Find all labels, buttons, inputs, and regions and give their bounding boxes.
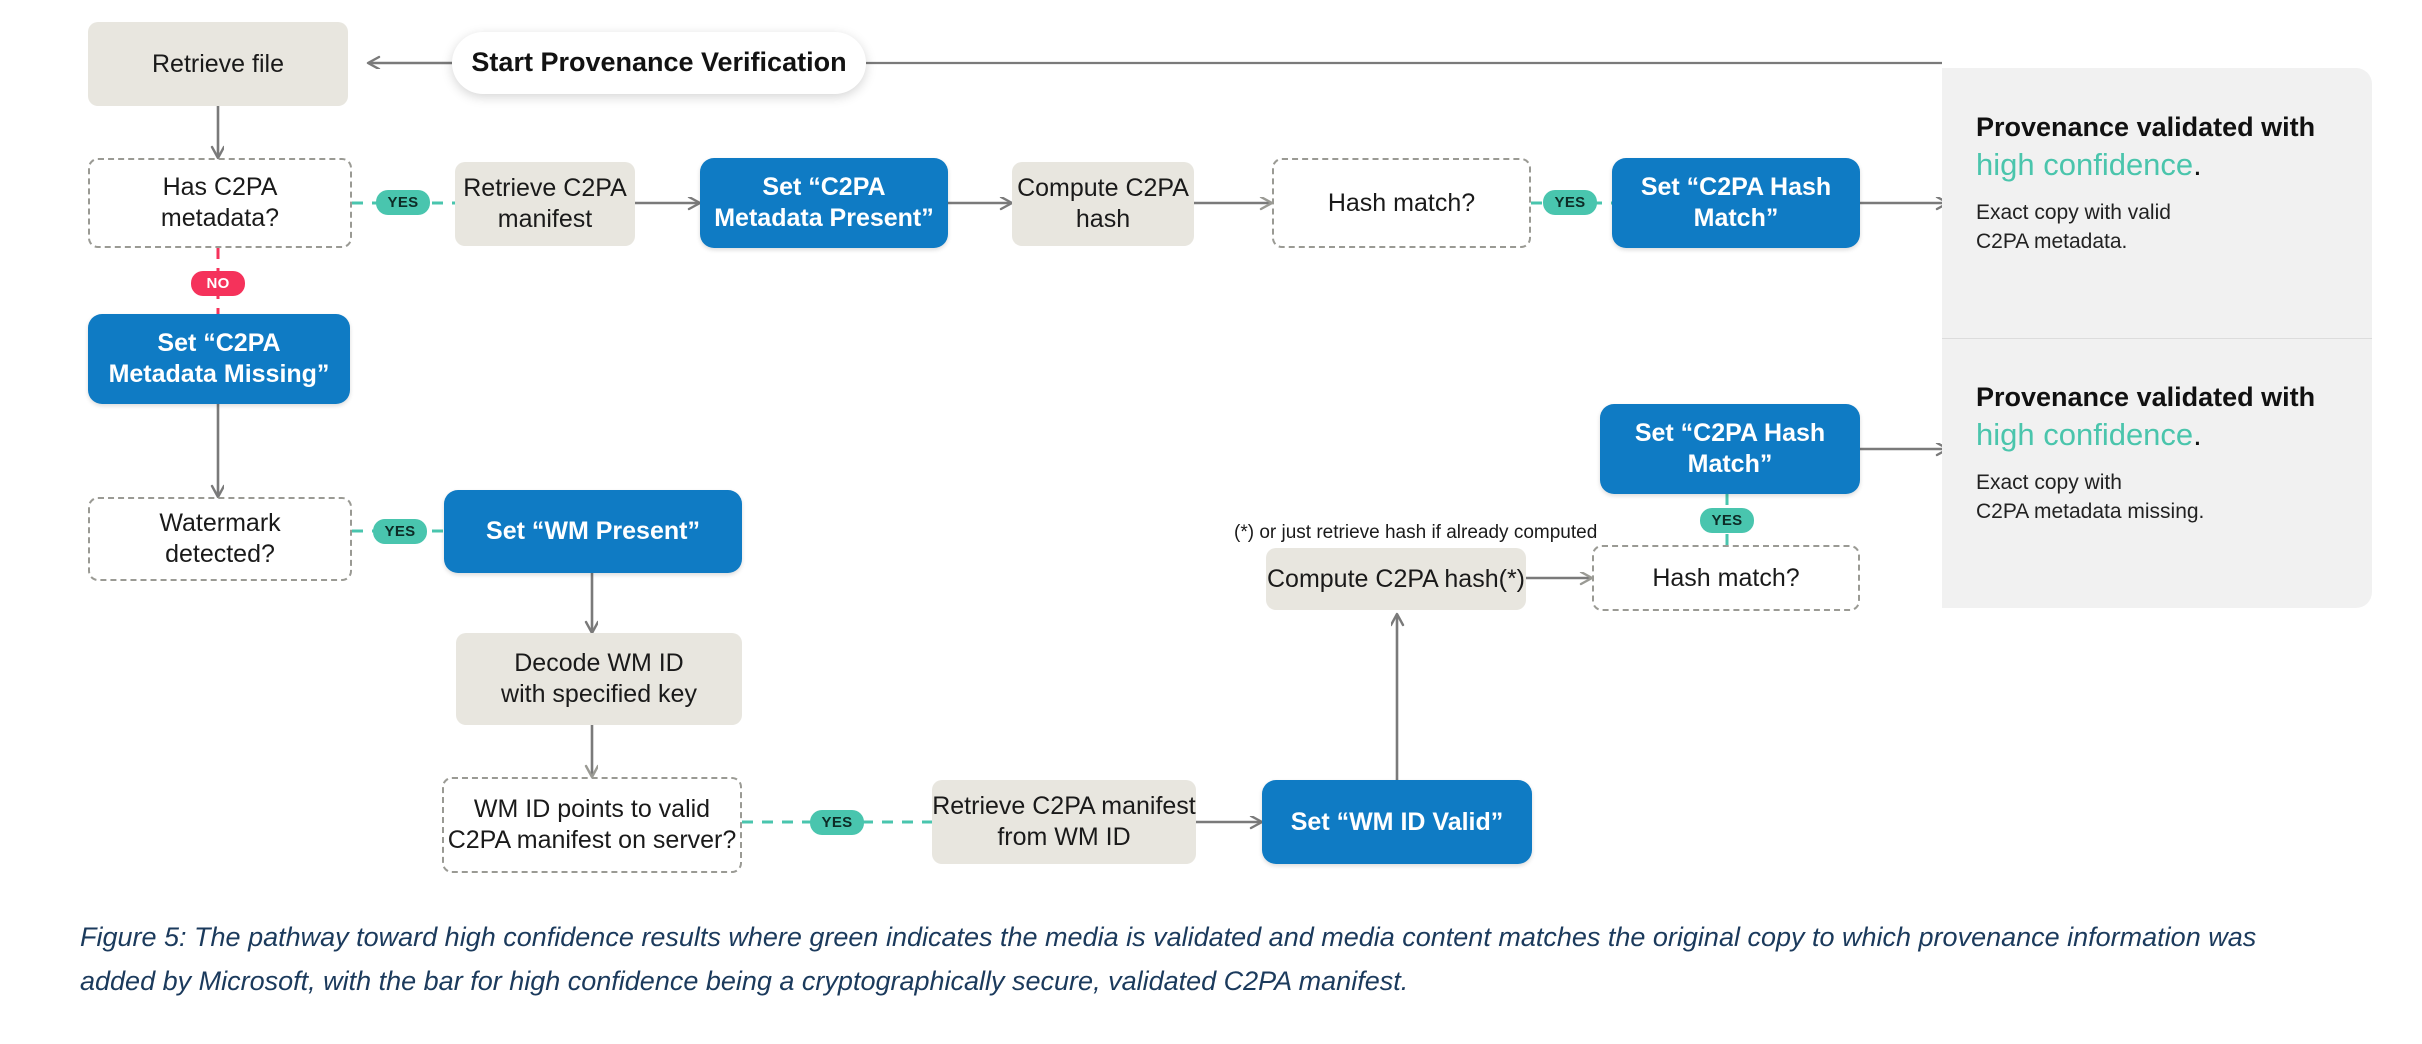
node-retrieve-file[interactable]: Retrieve file [88, 22, 348, 106]
result-card-high-confidence-valid-metadata: Provenance validated with high confidenc… [1942, 68, 2372, 338]
result-accent-period: . [2193, 417, 2202, 452]
badge-yes-watermark-detected: YES [373, 519, 427, 544]
badge-no-has-c2pa-metadata: NO [191, 271, 245, 296]
result-headline: Provenance validated with [1976, 68, 2338, 146]
node-set-c2pa-metadata-missing[interactable]: Set “C2PA Metadata Missing” [88, 314, 350, 404]
badge-label: YES [385, 523, 416, 540]
node-label: Has C2PA metadata? [161, 172, 279, 234]
result-detail: Exact copy with C2PA metadata missing. [1976, 453, 2338, 527]
badge-label: YES [1555, 194, 1586, 211]
node-set-wm-present[interactable]: Set “WM Present” [444, 490, 742, 573]
node-label: Retrieve C2PA manifest from WM ID [932, 791, 1196, 853]
footnote-hash-retrieval: (*) or just retrieve hash if already com… [1234, 522, 1597, 544]
node-label: Set “C2PA Hash Match” [1635, 418, 1825, 480]
node-set-c2pa-metadata-present[interactable]: Set “C2PA Metadata Present” [700, 158, 948, 248]
node-label: Compute C2PA hash [1017, 173, 1189, 235]
node-watermark-detected[interactable]: Watermark detected? [88, 497, 352, 581]
node-set-c2pa-hash-match-bottom[interactable]: Set “C2PA Hash Match” [1600, 404, 1860, 494]
result-card-high-confidence-missing-metadata: Provenance validated with high confidenc… [1942, 338, 2372, 608]
node-hash-match-top[interactable]: Hash match? [1272, 158, 1531, 248]
node-label: Set “WM Present” [486, 516, 700, 547]
result-accent-line: high confidence. [1976, 146, 2338, 184]
badge-yes-wm-id-points-to-valid-manifest: YES [810, 810, 864, 835]
node-label: Set “C2PA Metadata Missing” [109, 328, 330, 390]
result-accent-period: . [2193, 147, 2202, 182]
node-set-c2pa-hash-match-top[interactable]: Set “C2PA Hash Match” [1612, 158, 1860, 248]
node-start-provenance-verification[interactable]: Start Provenance Verification [452, 32, 866, 94]
node-label: Set “C2PA Hash Match” [1641, 172, 1831, 234]
node-label: Set “WM ID Valid” [1291, 807, 1504, 838]
node-hash-match-bottom[interactable]: Hash match? [1592, 545, 1860, 611]
figure-caption: Figure 5: The pathway toward high confid… [80, 916, 2320, 1003]
node-label: Compute C2PA hash(*) [1267, 564, 1525, 595]
footnote-text: (*) or just retrieve hash if already com… [1234, 522, 1597, 543]
results-panel: Provenance validated with high confidenc… [1942, 68, 2372, 608]
badge-label: YES [822, 814, 853, 831]
result-headline: Provenance validated with [1976, 338, 2338, 416]
node-label: Watermark detected? [159, 508, 280, 570]
node-set-wm-id-valid[interactable]: Set “WM ID Valid” [1262, 780, 1532, 864]
result-accent-text: high confidence [1976, 147, 2193, 182]
node-wm-id-points-to-valid-manifest[interactable]: WM ID points to valid C2PA manifest on s… [442, 777, 742, 873]
node-compute-c2pa-hash-star[interactable]: Compute C2PA hash(*) [1266, 548, 1526, 610]
node-label: WM ID points to valid C2PA manifest on s… [448, 794, 737, 856]
node-label: Hash match? [1328, 188, 1475, 219]
node-decode-wm-id[interactable]: Decode WM ID with specified key [456, 633, 742, 725]
node-label: Set “C2PA Metadata Present” [714, 172, 934, 234]
result-detail: Exact copy with valid C2PA metadata. [1976, 183, 2338, 257]
badge-yes-hash-match-top: YES [1543, 190, 1597, 215]
badge-label: NO [206, 275, 229, 292]
figure-caption-text: Figure 5: The pathway toward high confid… [80, 922, 2256, 996]
result-accent-line: high confidence. [1976, 416, 2338, 454]
node-label: Start Provenance Verification [471, 46, 846, 79]
badge-yes-hash-match-bottom: YES [1700, 508, 1754, 533]
badge-label: YES [388, 194, 419, 211]
node-label: Retrieve C2PA manifest [463, 173, 627, 235]
node-retrieve-c2pa-manifest[interactable]: Retrieve C2PA manifest [455, 162, 635, 246]
flowchart-canvas: Retrieve C2PA manifest --> Set Metadata … [0, 0, 2422, 1044]
result-accent-text: high confidence [1976, 417, 2193, 452]
node-retrieve-c2pa-manifest-from-wm-id[interactable]: Retrieve C2PA manifest from WM ID [932, 780, 1196, 864]
node-label: Decode WM ID with specified key [501, 648, 697, 710]
node-has-c2pa-metadata[interactable]: Has C2PA metadata? [88, 158, 352, 248]
node-label: Retrieve file [152, 49, 284, 80]
node-label: Hash match? [1652, 563, 1799, 594]
badge-yes-has-c2pa-metadata: YES [376, 190, 430, 215]
badge-label: YES [1712, 512, 1743, 529]
node-compute-c2pa-hash[interactable]: Compute C2PA hash [1012, 162, 1194, 246]
